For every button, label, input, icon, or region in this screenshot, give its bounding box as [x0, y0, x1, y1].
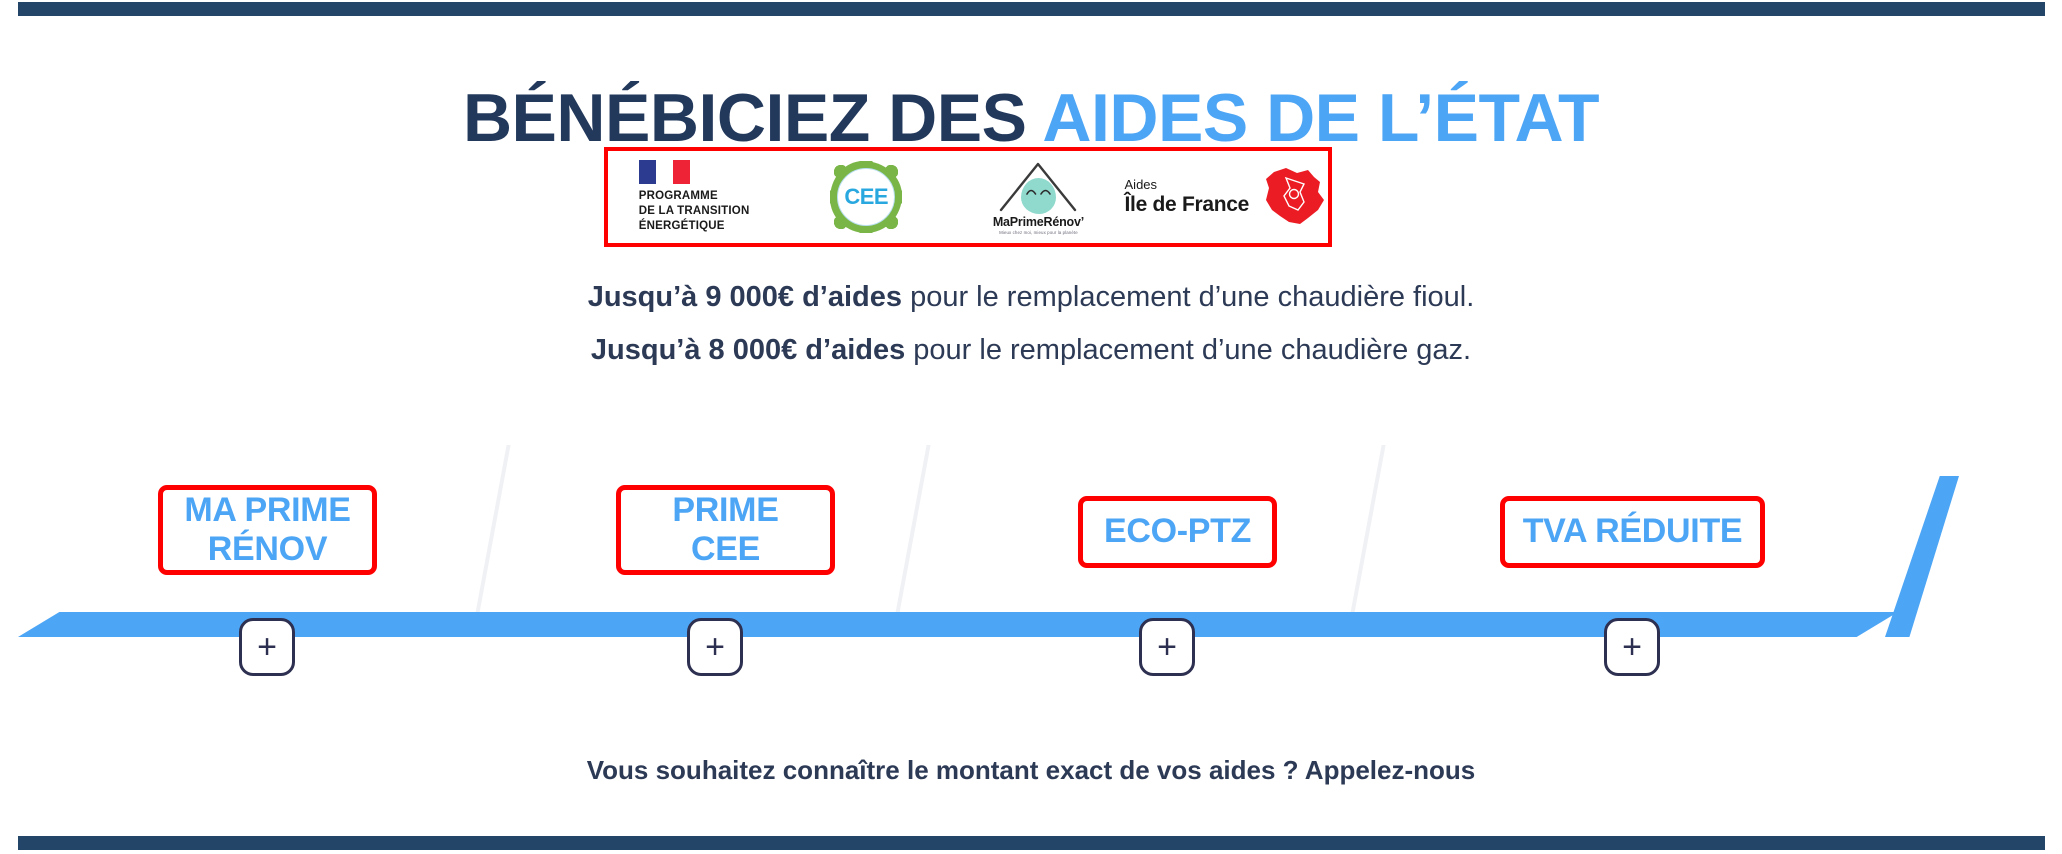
logo-programme-line-1: PROGRAMME [639, 189, 750, 204]
aide-amount-line: Jusqu’à 8 000€ d’aides pour le remplacem… [0, 336, 2062, 365]
logo-programme-line-2: DE LA TRANSITION [639, 204, 750, 219]
plus-icon: + [1622, 630, 1642, 664]
aide-card-label-line-1: PRIME [672, 491, 778, 529]
logo-aides-ile-de-france: Aides Île de France [1125, 151, 1329, 243]
logo-programme-transition-energetique: PROGRAMME DE LA TRANSITION ÉNERGÉTIQUE [608, 151, 780, 243]
aide-card-label-line-1: ECO-PTZ [1104, 512, 1251, 550]
page-title-part-2: AIDES DE L’ÉTAT [1042, 80, 1599, 156]
maprimerenov-label: MaPrimeRénov’ [993, 215, 1084, 229]
page-title: BÉNÉBICIEZ DES AIDES DE L’ÉTAT [0, 84, 2062, 152]
french-flag-icon [639, 160, 690, 184]
contact-cta-text: Vous souhaitez connaître le montant exac… [0, 755, 2062, 786]
expand-button-prime-cee[interactable]: + [687, 618, 743, 676]
logo-programme-line-3: ÉNERGÉTIQUE [639, 219, 750, 234]
logo-programme-text: PROGRAMME DE LA TRANSITION ÉNERGÉTIQUE [639, 189, 750, 233]
idf-label-large: Île de France [1125, 193, 1250, 216]
aide-amount-list: Jusqu’à 9 000€ d’aides pour le remplacem… [0, 283, 2062, 389]
aide-card-label-line-1: TVA RÉDUITE [1523, 512, 1743, 550]
aide-card-label: PRIME CEE [672, 491, 778, 569]
plus-icon: + [1157, 630, 1177, 664]
idf-label-small: Aides [1125, 178, 1158, 192]
aide-card-label-line-2: CEE [691, 530, 760, 568]
expand-button-ma-prime-renov[interactable]: + [239, 618, 295, 676]
aide-card-label: MA PRIME RÉNOV [184, 491, 350, 569]
cee-badge-icon: CEE [830, 161, 902, 233]
aide-card-label: ECO-PTZ [1104, 512, 1251, 551]
page-title-part-1: BÉNÉBICIEZ DES [463, 80, 1027, 156]
maprimerenov-tagline: Mieux chez moi, mieux pour la planète [999, 230, 1078, 235]
partner-logo-strip: PROGRAMME DE LA TRANSITION ÉNERGÉTIQUE C… [604, 147, 1332, 247]
top-divider-bar [18, 2, 2045, 16]
plus-icon: + [705, 630, 725, 664]
bottom-divider-bar [18, 836, 2045, 850]
ile-de-france-map-icon [1256, 166, 1328, 228]
cee-label: CEE [844, 184, 888, 210]
aide-card-ma-prime-renov[interactable]: MA PRIME RÉNOV [158, 485, 377, 575]
aide-card-label: TVA RÉDUITE [1523, 512, 1743, 551]
aide-amount-desc-1: pour le remplacement d’une chaudière fio… [902, 281, 1474, 313]
aide-amount-line: Jusqu’à 9 000€ d’aides pour le remplacem… [0, 283, 2062, 312]
expand-button-tva-reduite[interactable]: + [1604, 618, 1660, 676]
aide-amount-value-2: Jusqu’à 8 000€ d’aides [591, 334, 905, 366]
aide-card-label-line-2: RÉNOV [208, 530, 327, 568]
aide-card-tva-reduite[interactable]: TVA RÉDUITE [1500, 496, 1765, 568]
aide-card-eco-ptz[interactable]: ECO-PTZ [1078, 496, 1277, 568]
aides-ribbon: MA PRIME RÉNOV + PRIME CEE + ECO-PTZ + T… [0, 440, 2062, 660]
logo-maprimerenov: MaPrimeRénov’ Mieux chez moi, mieux pour… [952, 151, 1124, 243]
aide-amount-desc-2: pour le remplacement d’une chaudière gaz… [905, 334, 1471, 366]
aide-card-label-line-1: MA PRIME [184, 491, 350, 529]
plus-icon: + [257, 630, 277, 664]
maprimerenov-house-icon [995, 160, 1081, 214]
aide-amount-value-1: Jusqu’à 9 000€ d’aides [588, 281, 902, 313]
logo-cee: CEE [780, 151, 952, 243]
aide-card-prime-cee[interactable]: PRIME CEE [616, 485, 835, 575]
expand-button-eco-ptz[interactable]: + [1139, 618, 1195, 676]
